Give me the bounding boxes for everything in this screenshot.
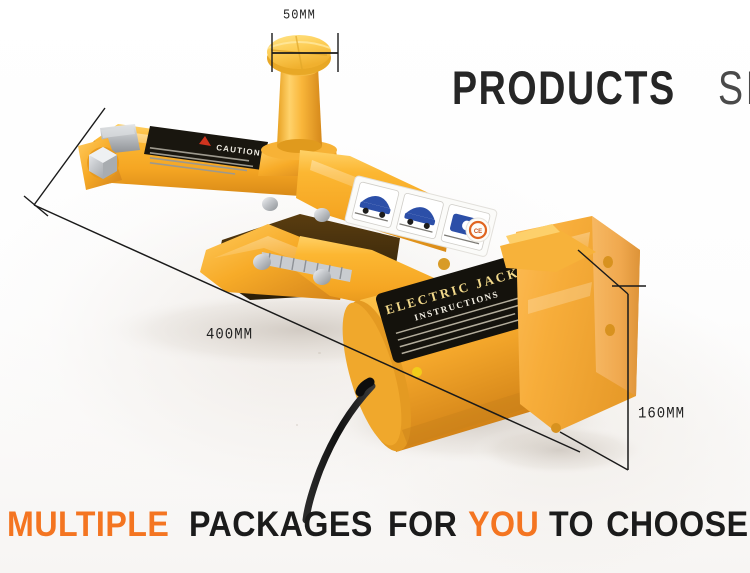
- page-title: PRODUCTSSIZE: [452, 64, 750, 111]
- dim-400-tick: [24, 196, 48, 216]
- promo-banner: MULTIPLE PACKAGES FOR YOU TO CHOOSE: [0, 505, 750, 545]
- banner-word-1: PACKAGES: [189, 505, 373, 545]
- dim-400-ext-top: [34, 108, 105, 205]
- banner-word-5: CHOOSE: [606, 505, 748, 545]
- page-title-bold: PRODUCTS: [452, 64, 676, 111]
- banner-word-3: YOU: [468, 505, 539, 545]
- dim-160-ext-bottom: [560, 432, 628, 470]
- dimension-label-length: 400MM: [206, 326, 253, 344]
- page-title-light: SIZE: [718, 64, 750, 111]
- dimension-label-height: 160MM: [638, 405, 685, 423]
- banner-word-0: MULTIPLE: [7, 505, 169, 545]
- product-size-infographic: CAUTION: [0, 0, 750, 573]
- dimension-label-width: 50MM: [283, 7, 316, 23]
- dim-400-line: [34, 205, 580, 452]
- dim-160-ext-top: [578, 250, 628, 294]
- banner-word-4: TO: [549, 505, 594, 545]
- banner-word-2: FOR: [388, 505, 457, 545]
